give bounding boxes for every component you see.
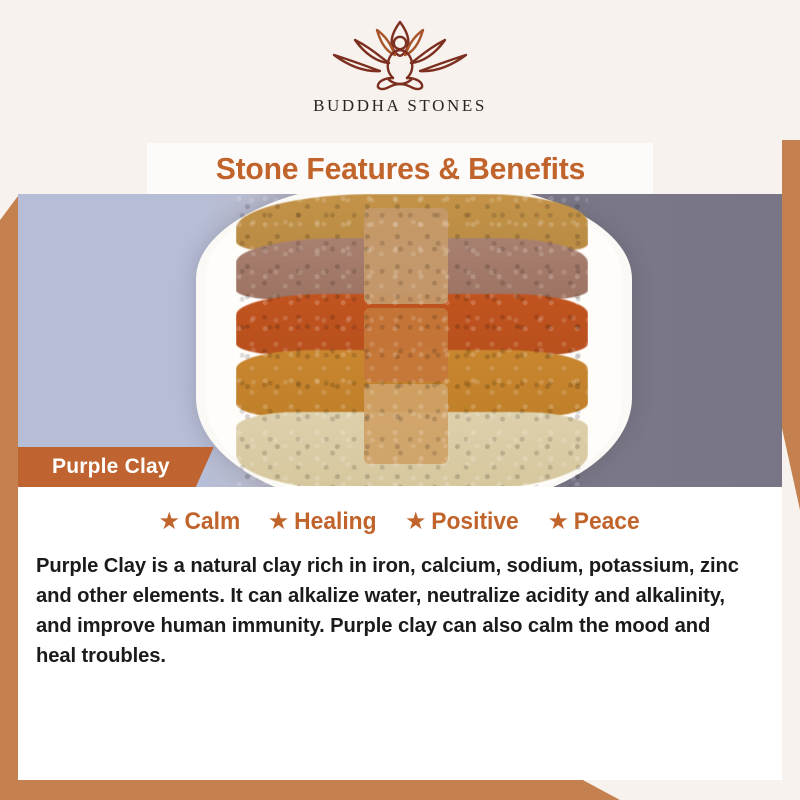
benefit-label: Peace — [574, 508, 640, 536]
frame-left-bar — [0, 196, 18, 800]
lotus-meditation-icon — [325, 16, 475, 94]
benefit-label: Positive — [432, 508, 519, 536]
benefits-row: ★ Calm ★ Healing ★ Positive ★ Peace — [18, 487, 782, 536]
benefit-item-peace: ★ Peace — [548, 508, 642, 536]
stone-name-label: Purple Clay — [52, 455, 170, 479]
clay-chip-middle — [364, 308, 448, 382]
clay-powder-bands — [236, 194, 588, 486]
brand-logo: BUDDHA STONES — [290, 16, 510, 116]
product-image — [18, 194, 782, 487]
star-icon: ★ — [405, 510, 427, 534]
content-panel: ★ Calm ★ Healing ★ Positive ★ Peace Purp… — [18, 487, 782, 780]
benefit-item-positive: ★ Positive — [405, 508, 522, 536]
clay-chip-top — [364, 208, 448, 304]
stone-description: Purple Clay is a natural clay rich in ir… — [36, 551, 753, 672]
star-icon: ★ — [268, 510, 290, 534]
star-icon: ★ — [548, 510, 570, 534]
frame-bottom-bar — [0, 780, 620, 800]
clay-chip-bottom — [364, 384, 448, 464]
brand-name: BUDDHA STONES — [290, 96, 510, 116]
benefit-item-healing: ★ Healing — [268, 508, 379, 536]
benefit-item-calm: ★ Calm — [159, 508, 242, 536]
infographic-page: BUDDHA STONES Stone Features & Benefits … — [0, 0, 800, 800]
star-icon: ★ — [159, 510, 181, 534]
page-title: Stone Features & Benefits — [215, 151, 584, 187]
benefit-label: Calm — [185, 508, 241, 536]
title-banner: Stone Features & Benefits — [147, 143, 653, 194]
stone-name-tag: Purple Clay — [18, 447, 214, 487]
benefit-label: Healing — [294, 508, 376, 536]
brand-header: BUDDHA STONES — [0, 0, 800, 140]
